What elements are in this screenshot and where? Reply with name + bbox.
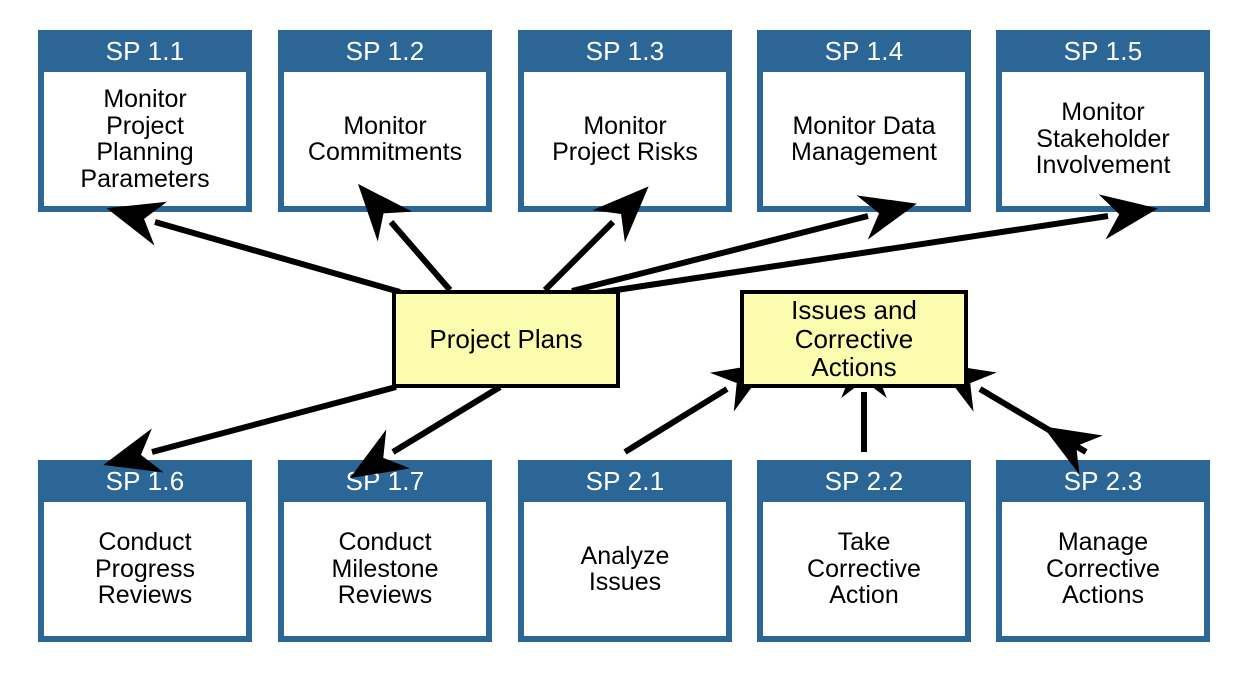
practice-box-sp-1-6[interactable]: SP 1.6 Conduct Progress Reviews <box>38 460 252 642</box>
practice-box-body: Monitor Project Risks <box>524 72 726 206</box>
practice-box-sp-1-5[interactable]: SP 1.5 Monitor Stakeholder Involvement <box>996 30 1210 212</box>
connector-project-plans-to-sp-1-3 <box>545 222 613 290</box>
practice-box-sp-1-1[interactable]: SP 1.1 Monitor Project Planning Paramete… <box>38 30 252 212</box>
connector-sp-2-1-to-issues-actions <box>625 389 727 452</box>
practice-box-body: Monitor Data Management <box>763 72 965 206</box>
artifact-box-issues-and-corrective-actions[interactable]: Issues and Corrective Actions <box>740 290 968 388</box>
practice-box-header: SP 1.1 <box>38 30 252 72</box>
practice-box-body: Conduct Milestone Reviews <box>284 502 486 636</box>
practice-box-sp-2-3[interactable]: SP 2.3 Manage Corrective Actions <box>996 460 1210 642</box>
connector-project-plans-to-sp-1-1 <box>155 222 400 292</box>
practice-box-sp-1-4[interactable]: SP 1.4 Monitor Data Management <box>757 30 971 212</box>
practice-box-sp-1-7[interactable]: SP 1.7 Conduct Milestone Reviews <box>278 460 492 642</box>
practice-box-body: Monitor Project Planning Parameters <box>44 72 246 206</box>
practice-box-header: SP 2.2 <box>757 460 971 502</box>
practice-box-header: SP 1.4 <box>757 30 971 72</box>
practice-box-header: SP 1.5 <box>996 30 1210 72</box>
practice-box-header: SP 2.3 <box>996 460 1210 502</box>
connector-project-plans-to-sp-1-4 <box>572 216 868 291</box>
practice-box-header: SP 1.2 <box>278 30 492 72</box>
practice-box-sp-1-3[interactable]: SP 1.3 Monitor Project Risks <box>518 30 732 212</box>
practice-box-header: SP 1.3 <box>518 30 732 72</box>
practice-box-body: Conduct Progress Reviews <box>44 502 246 636</box>
practice-box-body: Manage Corrective Actions <box>1002 502 1204 636</box>
diagram-canvas: SP 1.1 Monitor Project Planning Paramete… <box>0 0 1244 684</box>
artifact-box-project-plans[interactable]: Project Plans <box>392 290 620 388</box>
practice-box-header: SP 1.7 <box>278 460 492 502</box>
practice-box-header: SP 2.1 <box>518 460 732 502</box>
practice-box-sp-2-1[interactable]: SP 2.1 Analyze Issues <box>518 460 732 642</box>
connector-project-plans-to-sp-1-2 <box>391 222 450 290</box>
practice-box-body: Monitor Stakeholder Involvement <box>1002 72 1204 206</box>
practice-box-body: Monitor Commitments <box>284 72 486 206</box>
connector-project-plans-to-sp-1-5 <box>570 216 1108 297</box>
practice-box-sp-1-2[interactable]: SP 1.2 Monitor Commitments <box>278 30 492 212</box>
practice-box-body: Take Corrective Action <box>763 502 965 636</box>
practice-box-body: Analyze Issues <box>524 502 726 636</box>
connector-project-plans-to-sp-1-6 <box>152 387 396 452</box>
practice-box-sp-2-2[interactable]: SP 2.2 Take Corrective Action <box>757 460 971 642</box>
connector-sp-2-3-to-issues-actions <box>980 389 1086 452</box>
connector-project-plans-to-sp-1-7 <box>393 387 500 452</box>
practice-box-header: SP 1.6 <box>38 460 252 502</box>
